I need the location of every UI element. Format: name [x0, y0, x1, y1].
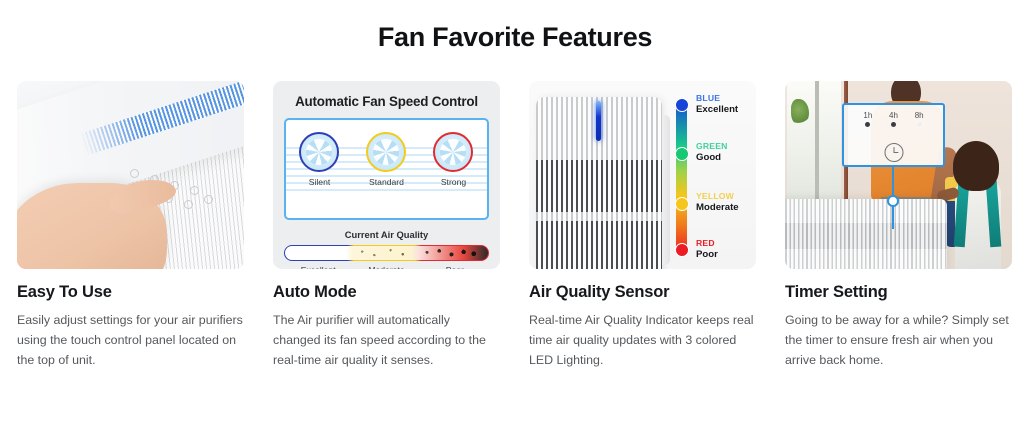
legend-status: Poor — [696, 249, 718, 260]
card-body-text: Going to be away for a while? Simply set… — [785, 310, 1012, 370]
purifier-filter-band — [536, 160, 662, 212]
timer-option-label: 1h — [863, 111, 872, 120]
fan-icon-silent — [299, 132, 339, 172]
timer-option-label: 8h — [915, 111, 924, 120]
card-body-text: The Air purifier will automatically chan… — [273, 310, 500, 370]
purifier-unit — [785, 199, 947, 269]
timer-callout-panel: 1h 4h 8h — [842, 103, 945, 167]
legend-item-yellow: YELLOW Moderate — [696, 191, 739, 213]
fan-speed-panel: Silent Standard Strong — [284, 118, 489, 220]
feature-card-list: Easy To Use Easily adjust settings for y… — [17, 81, 1013, 381]
air-quality-title: Current Air Quality — [284, 229, 489, 240]
legend-item-green: GREEN Good — [696, 141, 728, 163]
legend-status: Excellent — [696, 104, 738, 115]
air-quality-label: Moderate — [352, 265, 420, 269]
fan-speed-row: Silent Standard Strong — [286, 132, 487, 187]
diagram-title: Automatic Fan Speed Control — [284, 94, 489, 109]
legend-status: Good — [696, 152, 728, 163]
timer-dot-4h — [891, 122, 896, 127]
fan-label: Strong — [420, 177, 486, 187]
window-frame — [815, 81, 819, 199]
purifier-unit — [536, 97, 662, 269]
purifier-filter-band — [536, 221, 662, 269]
timer-dot-1h — [865, 122, 870, 127]
air-quality-label: Poor — [421, 265, 489, 269]
purifier-filter-band — [785, 223, 947, 249]
led-color-legend: BLUE Excellent GREEN Good YELLOW Moderat… — [673, 99, 753, 255]
card-heading: Air Quality Sensor — [529, 283, 756, 302]
timer-indicator-dots — [844, 120, 943, 127]
legend-color-name: YELLOW — [696, 191, 739, 201]
page-title: Fan Favorite Features — [0, 22, 1030, 53]
card-heading: Easy To Use — [17, 283, 244, 302]
card-heading: Timer Setting — [785, 283, 1012, 302]
card-body-text: Easily adjust settings for your air puri… — [17, 310, 244, 370]
legend-color-name: RED — [696, 238, 718, 248]
legend-gradient-bar — [676, 99, 687, 255]
legend-item-blue: BLUE Excellent — [696, 93, 738, 115]
clock-icon — [884, 143, 903, 162]
legend-color-name: BLUE — [696, 93, 738, 103]
fan-label: Standard — [353, 177, 419, 187]
air-quality-sensor-diagram: BLUE Excellent GREEN Good YELLOW Moderat… — [529, 81, 756, 269]
air-quality-gradient-bar — [284, 245, 489, 261]
plant — [791, 99, 809, 125]
auto-mode-diagram: Automatic Fan Speed Control Silent Stand… — [273, 81, 500, 269]
legend-labels: BLUE Excellent GREEN Good YELLOW Moderat… — [687, 99, 753, 255]
legend-item-red: RED Poor — [696, 238, 718, 260]
purifier-side-panel — [662, 115, 670, 265]
air-quality-labels: Excellent Moderate Poor — [284, 265, 489, 269]
feature-section: Fan Favorite Features Easy To Use Easily… — [0, 0, 1030, 422]
feature-card-easy-to-use: Easy To Use Easily adjust settings for y… — [17, 81, 244, 381]
legend-status: Moderate — [696, 202, 739, 213]
callout-anchor-dot — [887, 195, 899, 207]
fan-icon-strong — [433, 132, 473, 172]
legend-color-name: GREEN — [696, 141, 728, 151]
feature-card-air-quality-sensor: BLUE Excellent GREEN Good YELLOW Moderat… — [529, 81, 756, 381]
timer-dot-8h — [917, 122, 922, 127]
air-quality-label: Excellent — [284, 265, 352, 269]
fan-speed-standard: Standard — [353, 132, 419, 187]
fan-icon-standard — [366, 132, 406, 172]
timer-options: 1h 4h 8h — [844, 105, 943, 120]
fan-label: Silent — [286, 177, 352, 187]
card-heading: Auto Mode — [273, 283, 500, 302]
dust-particles — [285, 246, 488, 260]
feature-card-auto-mode: Automatic Fan Speed Control Silent Stand… — [273, 81, 500, 381]
feature-card-timer-setting: 1h 4h 8h Timer Setting Going to be away … — [785, 81, 1012, 381]
fan-speed-silent: Silent — [286, 132, 352, 187]
timer-option-label: 4h — [889, 111, 898, 120]
card-body-text: Real-time Air Quality Indicator keeps re… — [529, 310, 756, 370]
led-indicator-icon — [596, 101, 601, 141]
easy-to-use-image — [17, 81, 244, 269]
child-head — [953, 141, 999, 191]
fan-speed-strong: Strong — [420, 132, 486, 187]
timer-setting-image: 1h 4h 8h — [785, 81, 1012, 269]
